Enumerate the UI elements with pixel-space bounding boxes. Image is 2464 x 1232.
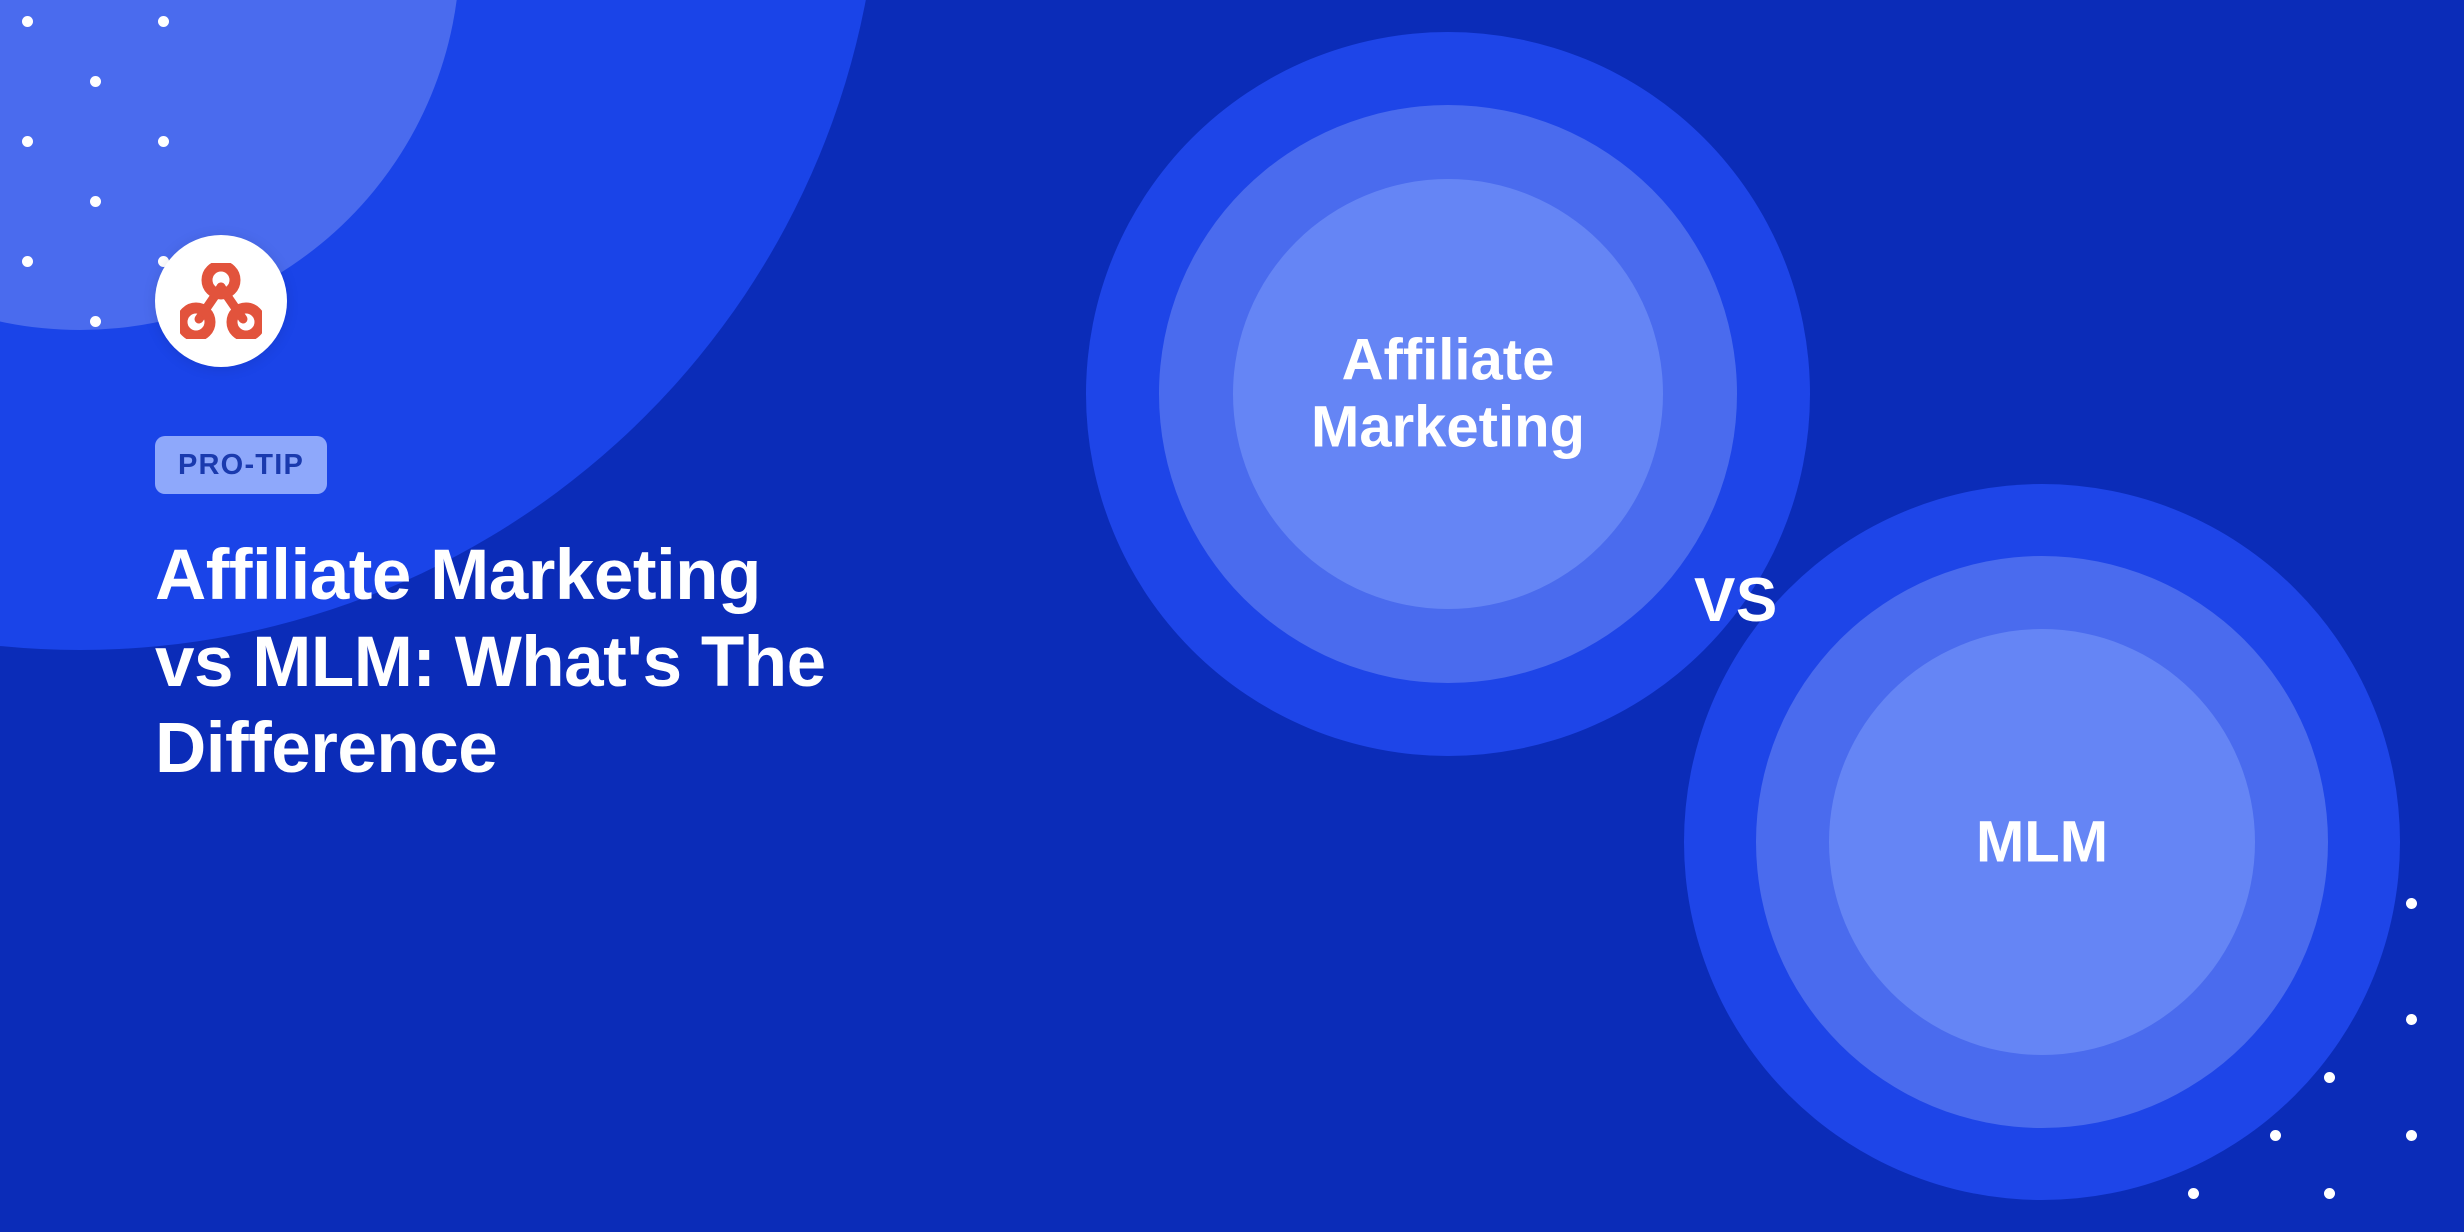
decorative-dot: [2324, 1072, 2335, 1083]
decorative-dot: [2188, 1188, 2199, 1199]
left-content-column: PRO-TIP Affiliate Marketing vs MLM: What…: [155, 235, 955, 840]
brand-logo: [155, 235, 287, 367]
decorative-dot: [90, 316, 101, 327]
dot-pattern-top-left: [0, 0, 220, 260]
poster-canvas: PRO-TIP Affiliate Marketing vs MLM: What…: [0, 0, 2464, 1232]
circle-label-affiliate-marketing: Affiliate Marketing: [1086, 327, 1810, 462]
headline-line-3: Difference: [155, 709, 497, 788]
affiliate-network-icon: [180, 263, 262, 339]
decorative-dot: [2324, 1188, 2335, 1199]
pro-tip-badge: PRO-TIP: [155, 436, 327, 494]
decorative-dot: [158, 16, 169, 27]
decorative-dot: [90, 196, 101, 207]
headline-line-1: Affiliate Marketing: [155, 536, 761, 615]
decorative-dot: [22, 136, 33, 147]
decorative-dot: [158, 136, 169, 147]
decorative-dot: [22, 256, 33, 267]
decorative-dot: [2406, 898, 2417, 909]
page-title: Affiliate Marketing vs MLM: What's The D…: [155, 533, 875, 793]
vs-label: VS: [1694, 570, 1778, 632]
circle-cluster-mlm: MLM: [1684, 484, 2400, 1200]
decorative-dot: [2270, 1130, 2281, 1141]
circle-cluster-affiliate-marketing: Affiliate Marketing: [1086, 32, 1810, 756]
decorative-dot: [2406, 1014, 2417, 1025]
decorative-dot: [22, 16, 33, 27]
headline-line-2: vs MLM: What's The: [155, 623, 826, 702]
circle-label-mlm: MLM: [1684, 808, 2400, 875]
decorative-dot: [90, 76, 101, 87]
decorative-dot: [2406, 1130, 2417, 1141]
